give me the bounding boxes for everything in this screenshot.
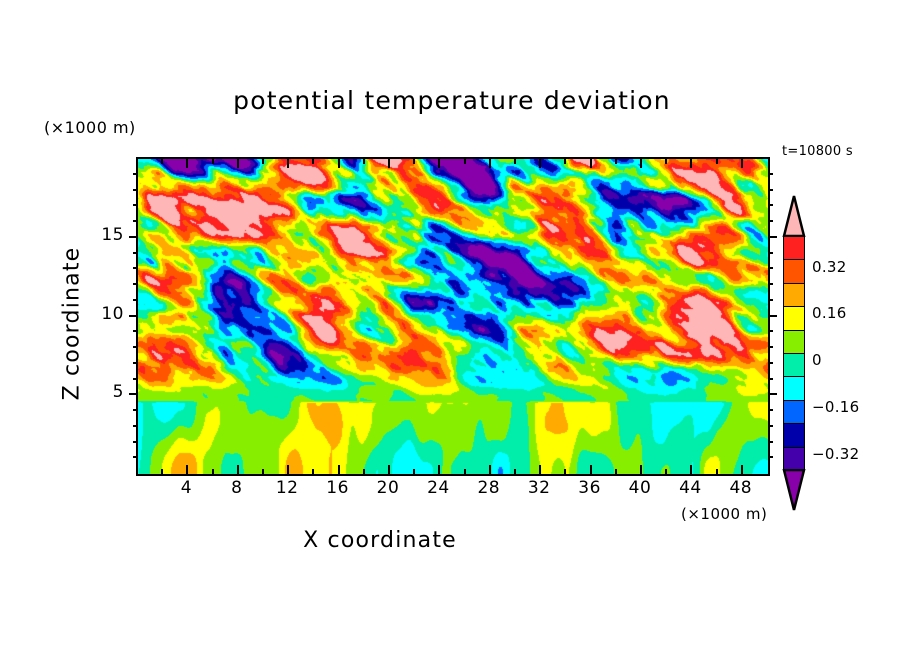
time-annotation: t=10800 s — [782, 144, 853, 159]
tick-y-left — [133, 220, 138, 222]
tick-y-right — [768, 362, 773, 364]
colorbar-ticklabel: −0.32 — [812, 445, 859, 463]
tick-x-bottom — [262, 469, 264, 474]
tick-y-right — [768, 283, 773, 285]
x-ticklabel: 32 — [519, 478, 559, 498]
tick-y-right — [768, 425, 773, 427]
tick-x-bottom — [312, 469, 314, 474]
tick-x-top — [514, 159, 516, 164]
tick-y-right — [768, 252, 773, 254]
y-ticklabel: 10 — [84, 304, 124, 324]
x-ticklabel: 16 — [318, 478, 358, 498]
tick-x-top — [690, 159, 692, 168]
tick-y-left — [129, 236, 138, 238]
colorbar-ticklabel: 0.32 — [812, 258, 847, 276]
tick-y-left — [133, 283, 138, 285]
colorbar — [783, 236, 805, 470]
tick-x-top — [640, 159, 642, 168]
tick-x-bottom — [413, 469, 415, 474]
tick-x-bottom — [489, 465, 491, 474]
y-axis-unit-label: (×1000 m) — [44, 118, 136, 137]
tick-y-right — [768, 173, 773, 175]
tick-x-bottom — [438, 465, 440, 474]
tick-x-bottom — [741, 465, 743, 474]
tick-x-top — [287, 159, 289, 168]
colorbar-ticklabel: −0.16 — [812, 398, 859, 416]
x-ticklabel: 44 — [670, 478, 710, 498]
tick-y-right — [768, 204, 773, 206]
x-ticklabel: 24 — [418, 478, 458, 498]
tick-y-left — [133, 252, 138, 254]
tick-x-top — [413, 159, 415, 164]
tick-y-right — [768, 409, 773, 411]
x-ticklabel: 4 — [166, 478, 206, 498]
contour-plot-area — [136, 157, 770, 476]
colorbar-band — [783, 423, 805, 448]
colorbar-band — [783, 236, 805, 261]
x-ticklabel: 28 — [469, 478, 509, 498]
tick-y-right — [768, 315, 777, 317]
x-ticklabel: 12 — [267, 478, 307, 498]
tick-x-top — [262, 159, 264, 164]
tick-y-left — [133, 189, 138, 191]
tick-x-top — [741, 159, 743, 168]
tick-x-bottom — [464, 469, 466, 474]
y-ticklabel: 15 — [84, 225, 124, 245]
tick-x-top — [388, 159, 390, 168]
tick-x-bottom — [665, 469, 667, 474]
colorbar-band — [783, 376, 805, 401]
colorbar-under-arrow — [782, 469, 806, 511]
tick-x-bottom — [237, 465, 239, 474]
tick-x-top — [237, 159, 239, 168]
tick-y-left — [129, 315, 138, 317]
tick-x-bottom — [514, 469, 516, 474]
tick-x-bottom — [640, 465, 642, 474]
tick-y-right — [768, 330, 773, 332]
tick-x-top — [665, 159, 667, 164]
colorbar-over-arrow — [782, 195, 806, 237]
colorbar-unit-label: (×1000 m) — [681, 505, 767, 523]
tick-x-top — [338, 159, 340, 168]
tick-y-right — [768, 220, 773, 222]
tick-x-top — [161, 159, 163, 164]
x-ticklabel: 20 — [368, 478, 408, 498]
tick-y-right — [768, 299, 773, 301]
tick-y-left — [133, 378, 138, 380]
y-axis-title: Z coordinate — [60, 204, 85, 444]
colorbar-band — [783, 330, 805, 355]
colorbar-band — [783, 447, 805, 472]
x-ticklabel: 48 — [721, 478, 761, 498]
colorbar-band — [783, 259, 805, 284]
tick-x-bottom — [287, 465, 289, 474]
tick-y-left — [133, 346, 138, 348]
x-ticklabel: 8 — [217, 478, 257, 498]
tick-y-left — [133, 409, 138, 411]
tick-y-right — [768, 393, 777, 395]
y-ticklabel: 5 — [84, 382, 124, 402]
tick-x-bottom — [539, 465, 541, 474]
tick-y-left — [133, 456, 138, 458]
colorbar-band — [783, 400, 805, 425]
tick-x-bottom — [564, 469, 566, 474]
tick-x-top — [212, 159, 214, 164]
colorbar-ticklabel: 0.16 — [812, 304, 847, 322]
colorbar-ticklabel: 0 — [812, 351, 822, 369]
tick-x-top — [564, 159, 566, 164]
x-ticklabel: 36 — [570, 478, 610, 498]
contour-field-canvas — [138, 159, 768, 474]
colorbar-band — [783, 283, 805, 308]
tick-x-top — [363, 159, 365, 164]
tick-y-right — [768, 346, 773, 348]
tick-y-right — [768, 456, 773, 458]
tick-y-left — [133, 267, 138, 269]
tick-x-top — [539, 159, 541, 168]
tick-x-bottom — [615, 469, 617, 474]
tick-y-right — [768, 441, 773, 443]
tick-y-right — [768, 267, 773, 269]
tick-x-bottom — [690, 465, 692, 474]
colorbar-band — [783, 353, 805, 378]
tick-x-top — [438, 159, 440, 168]
colorbar-band — [783, 306, 805, 331]
tick-x-top — [464, 159, 466, 164]
tick-y-left — [133, 299, 138, 301]
tick-x-bottom — [716, 469, 718, 474]
tick-y-left — [133, 441, 138, 443]
tick-x-bottom — [363, 469, 365, 474]
tick-x-top — [489, 159, 491, 168]
tick-x-top — [716, 159, 718, 164]
tick-x-top — [615, 159, 617, 164]
tick-x-bottom — [161, 469, 163, 474]
tick-y-left — [133, 330, 138, 332]
tick-y-right — [768, 236, 777, 238]
tick-x-bottom — [186, 465, 188, 474]
tick-y-left — [133, 173, 138, 175]
x-ticklabel: 40 — [620, 478, 660, 498]
tick-x-bottom — [212, 469, 214, 474]
tick-y-left — [133, 362, 138, 364]
tick-y-left — [133, 204, 138, 206]
page-title: potential temperature deviation — [0, 86, 904, 115]
x-axis-title: X coordinate — [0, 528, 760, 553]
tick-y-left — [133, 425, 138, 427]
tick-x-bottom — [388, 465, 390, 474]
tick-x-top — [312, 159, 314, 164]
tick-y-right — [768, 189, 773, 191]
tick-y-left — [129, 393, 138, 395]
tick-x-top — [590, 159, 592, 168]
tick-x-bottom — [590, 465, 592, 474]
tick-x-top — [186, 159, 188, 168]
tick-x-bottom — [338, 465, 340, 474]
tick-y-right — [768, 378, 773, 380]
